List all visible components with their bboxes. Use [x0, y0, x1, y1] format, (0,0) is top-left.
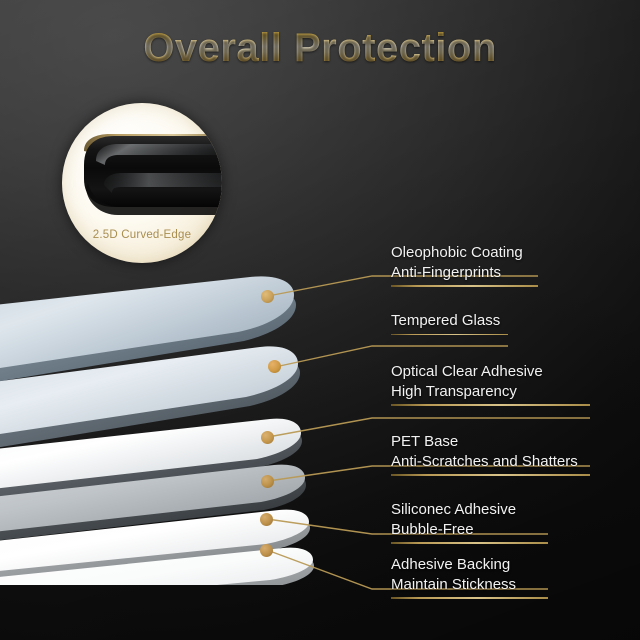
callout-rule [391, 285, 538, 287]
callout-adhesive-backing: Adhesive Backing Maintain Stickness [391, 555, 548, 599]
callout-connectors [0, 0, 640, 640]
callout-line-1: Siliconec Adhesive [391, 500, 548, 520]
callout-oleophobic-coating: Oleophobic Coating Anti-Fingerprints [391, 243, 538, 287]
callout-line-2: Anti-Fingerprints [391, 263, 538, 283]
callout-line-1: Tempered Glass [391, 311, 508, 331]
connector-dot-5 [260, 544, 273, 557]
callout-line-1: Optical Clear Adhesive [391, 362, 590, 382]
callout-line-2: Maintain Stickness [391, 575, 548, 595]
callout-line-2: Bubble-Free [391, 520, 548, 540]
callout-pet-base: PET Base Anti-Scratches and Shatters [391, 432, 590, 476]
connector-dot-4 [260, 513, 273, 526]
connector-dot-0 [261, 290, 274, 303]
product-infographic: Overall Protection [0, 0, 640, 640]
callout-siliconec-adhesive: Siliconec Adhesive Bubble-Free [391, 500, 548, 544]
callout-rule [391, 474, 590, 476]
callout-line-2: Anti-Scratches and Shatters [391, 452, 590, 472]
callout-rule [391, 404, 590, 406]
callout-optical-clear-adhesive: Optical Clear Adhesive High Transparency [391, 362, 590, 406]
connector-dot-1 [268, 360, 281, 373]
connector-dot-2 [261, 431, 274, 444]
callout-rule [391, 597, 548, 599]
connector-dot-3 [261, 475, 274, 488]
callout-rule [391, 542, 548, 544]
callout-line-1: PET Base [391, 432, 590, 452]
callout-line-1: Adhesive Backing [391, 555, 548, 575]
callout-rule [391, 334, 508, 336]
callout-tempered-glass: Tempered Glass [391, 311, 508, 335]
callout-line-1: Oleophobic Coating [391, 243, 538, 263]
callout-line-2: High Transparency [391, 382, 590, 402]
